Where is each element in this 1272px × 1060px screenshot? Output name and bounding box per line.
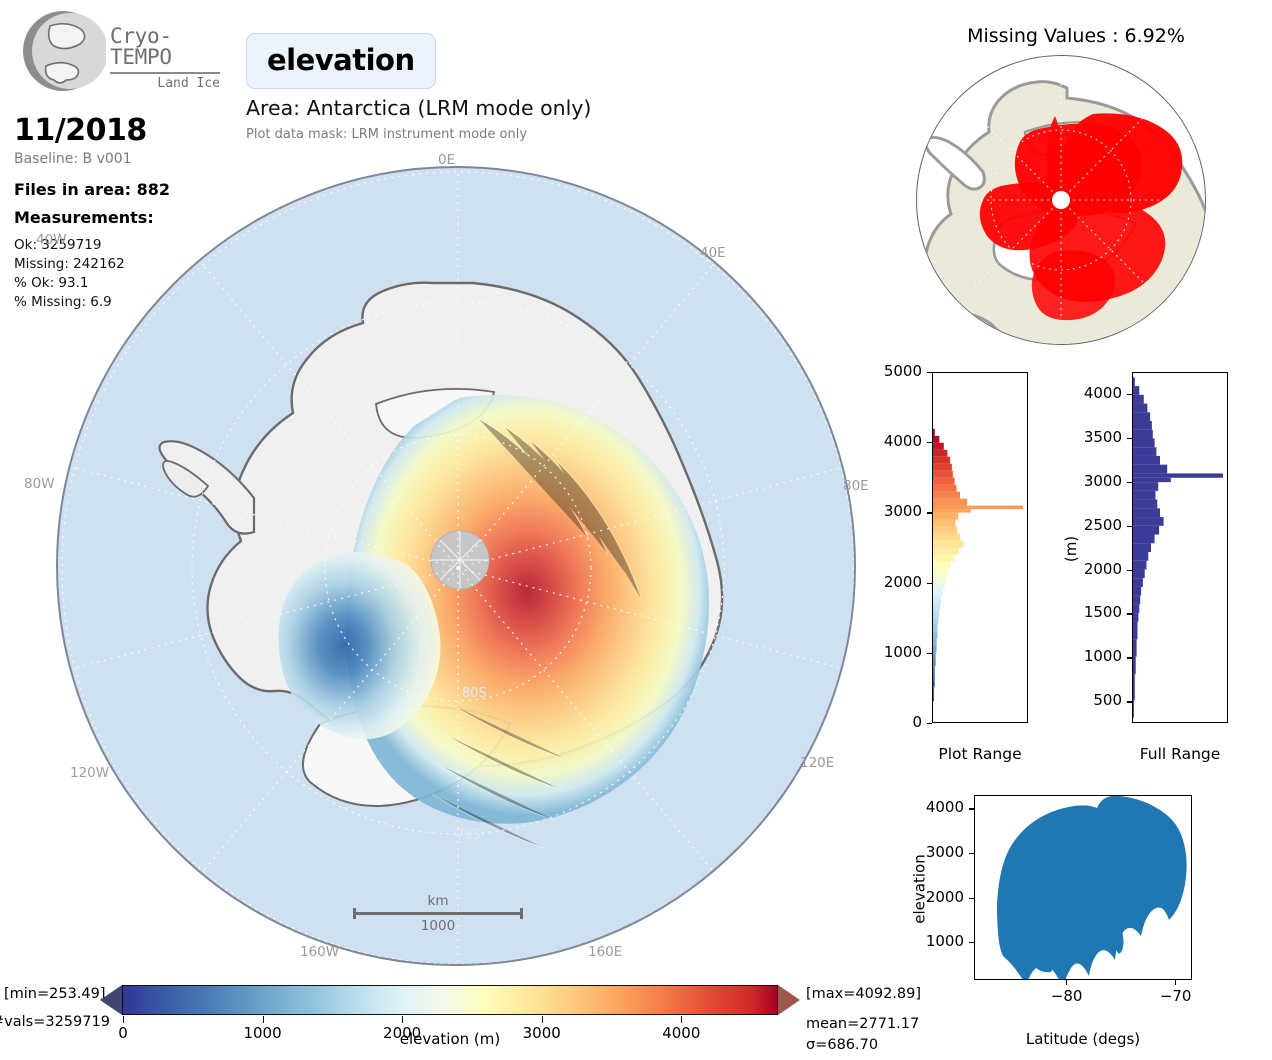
- colorbar-mean-label: mean=2771.17: [806, 1016, 919, 1032]
- lon-label-120w: 120W: [70, 765, 109, 781]
- scatter-cloud: [975, 796, 1191, 979]
- colorbar-tickmark: [542, 1016, 543, 1023]
- lon-label-0e: 0E: [438, 152, 455, 168]
- axis-tickmark: [969, 853, 974, 854]
- logo-subtitle: Land Ice: [110, 77, 220, 90]
- colorbar-axis-label: elevation (m): [100, 1030, 800, 1048]
- map-scalebar: km 1000: [353, 893, 523, 934]
- colorbar-under-arrow: [100, 985, 122, 1015]
- lon-label-160w: 160W: [300, 944, 339, 960]
- axis-ticklabel: 1000: [852, 643, 922, 661]
- axis-tickmark: [927, 583, 932, 584]
- axis-tickmark: [1127, 570, 1132, 571]
- axis-ticklabel: 4000: [1052, 384, 1122, 402]
- colorbar-over-arrow: [778, 985, 800, 1015]
- axis-tickmark: [927, 723, 932, 724]
- full-range-caption: Full Range: [1132, 745, 1228, 763]
- scalebar-bar: [353, 912, 523, 915]
- axis-tickmark: [1127, 438, 1132, 439]
- map-disc: 70S 80S km 1000: [56, 166, 856, 966]
- axis-tickmark: [927, 512, 932, 513]
- lon-label-160e: 160E: [588, 944, 622, 960]
- mask-note: Plot data mask: LRM instrument mode only: [246, 127, 527, 142]
- axis-ticklabel: 1000: [1052, 647, 1122, 665]
- plot-range-bars: [933, 373, 1027, 722]
- axis-tickmark: [1127, 526, 1132, 527]
- axis-tickmark: [927, 372, 932, 373]
- scalebar-unit: km: [353, 893, 523, 909]
- scalebar-value: 1000: [353, 918, 523, 934]
- axis-ticklabel: 2500: [1052, 516, 1122, 534]
- map-canvas: [58, 168, 856, 966]
- missing-values-map: [916, 55, 1206, 345]
- lat-label-70s: 70S: [456, 828, 481, 843]
- axis-ticklabel: 2000: [852, 573, 922, 591]
- lat-label-80s: 80S: [462, 686, 487, 701]
- axis-tickmark: [969, 898, 974, 899]
- axis-ticklabel: 3000: [892, 843, 964, 861]
- plot-range-histogram: [932, 372, 1028, 723]
- axis-tickmark: [1127, 657, 1132, 658]
- colorbar-tickmark: [402, 1016, 403, 1023]
- axis-ticklabel: 5000: [852, 362, 922, 380]
- axis-tickmark: [1127, 701, 1132, 702]
- axis-tickmark: [1127, 482, 1132, 483]
- axis-ticklabel: 2000: [892, 888, 964, 906]
- cryo-tempo-logo: Cryo-TEMPO Land Ice: [14, 6, 229, 98]
- elevation-vs-latitude-plot: [974, 795, 1192, 980]
- full-range-bars: [1133, 373, 1227, 722]
- antarctica-map: 70S 80S km 1000: [56, 166, 856, 966]
- axis-tickmark: [1175, 980, 1176, 985]
- scatter-xlabel: Latitude (degs): [974, 1030, 1192, 1048]
- globe-icon: [20, 8, 106, 94]
- missing-values-canvas: [917, 56, 1205, 344]
- axis-ticklabel: 4000: [852, 432, 922, 450]
- elevation-colorbar: 01000200030004000: [100, 985, 800, 1015]
- lon-label-80w: 80W: [24, 476, 55, 492]
- colorbar-tickmark: [123, 1016, 124, 1023]
- colorbar-min-label: [min=253.49]: [4, 986, 106, 1002]
- axis-ticklabel: 1500: [1052, 603, 1122, 621]
- missing-values-title: Missing Values : 6.92%: [880, 25, 1272, 47]
- logo-title: Cryo-TEMPO: [110, 26, 229, 68]
- full-range-ylabel: (m): [1062, 536, 1080, 562]
- axis-tickmark: [1127, 613, 1132, 614]
- lon-label-80e: 80E: [843, 478, 869, 494]
- axis-tickmark: [969, 808, 974, 809]
- colorbar-sigma-label: σ=686.70: [806, 1037, 878, 1053]
- colorbar-nvals-label: #vals=3259719: [0, 1014, 110, 1030]
- axis-ticklabel: −80: [1037, 987, 1097, 1005]
- colorbar-gradient: 01000200030004000: [122, 985, 778, 1015]
- axis-tickmark: [1127, 394, 1132, 395]
- parameter-badge: elevation: [246, 33, 436, 89]
- axis-tickmark: [927, 442, 932, 443]
- axis-ticklabel: 500: [1052, 691, 1122, 709]
- colorbar-max-label: [max=4092.89]: [806, 986, 921, 1002]
- axis-ticklabel: 3000: [1052, 472, 1122, 490]
- baseline-label: Baseline: B v001: [14, 151, 132, 167]
- axis-tickmark: [1066, 980, 1067, 985]
- date-label: 11/2018: [14, 113, 147, 148]
- axis-tickmark: [969, 942, 974, 943]
- axis-ticklabel: 1000: [892, 932, 964, 950]
- lon-label-40w: 40W: [36, 232, 67, 248]
- axis-ticklabel: 4000: [892, 798, 964, 816]
- axis-ticklabel: 0: [852, 713, 922, 731]
- axis-ticklabel: 2000: [1052, 560, 1122, 578]
- colorbar-tickmark: [681, 1016, 682, 1023]
- lon-label-40e: 40E: [700, 245, 726, 261]
- axis-tickmark: [927, 653, 932, 654]
- area-title: Area: Antarctica (LRM mode only): [246, 96, 591, 120]
- plot-range-caption: Plot Range: [932, 745, 1028, 763]
- lon-label-120e: 120E: [800, 755, 834, 771]
- axis-ticklabel: 3500: [1052, 428, 1122, 446]
- axis-ticklabel: −70: [1146, 987, 1206, 1005]
- logo-divider: [110, 72, 220, 74]
- full-range-histogram: [1132, 372, 1228, 723]
- colorbar-tickmark: [263, 1016, 264, 1023]
- axis-ticklabel: 3000: [852, 502, 922, 520]
